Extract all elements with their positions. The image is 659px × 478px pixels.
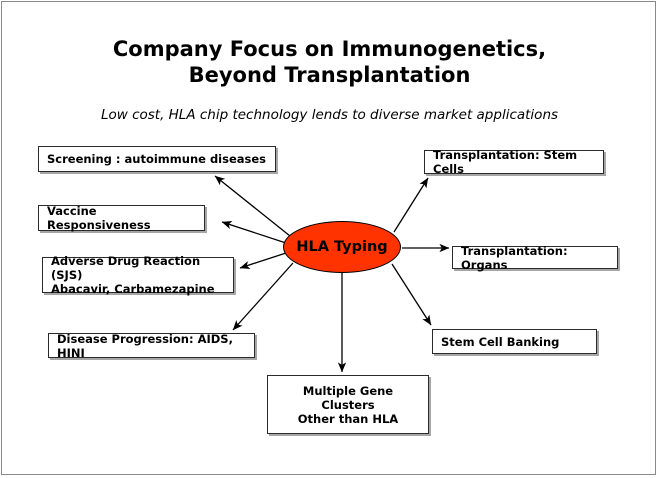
hub-node-label: HLA Typing [296,239,387,255]
node-multiple-gene-clusters-line-2: Other than HLA [298,412,398,426]
node-adverse-drug-reaction[interactable]: Adverse Drug Reaction (SJS) Abacavir, Ca… [42,257,234,293]
node-stem-cell-banking-label: Stem Cell Banking [433,335,596,349]
connector-to-stem-cell-banking [392,264,431,325]
node-adverse-drug-reaction-line-1: Adverse Drug Reaction (SJS) [51,254,200,282]
node-vaccine-responsiveness[interactable]: Vaccine Responsiveness [38,205,205,231]
node-multiple-gene-clusters-label: Multiple Gene Clusters Other than HLA [268,384,428,426]
connector-to-disease-progression [233,263,293,330]
node-adverse-drug-reaction-line-2: Abacavir, Carbamezapine [51,282,215,296]
node-transplantation-stem-cells[interactable]: Transplantation: Stem Cells [424,150,604,174]
slide-canvas: Company Focus on Immunogenetics, Beyond … [0,0,659,478]
node-multiple-gene-clusters[interactable]: Multiple Gene Clusters Other than HLA [267,375,429,434]
hub-node-hla-typing[interactable]: HLA Typing [283,221,401,273]
node-multiple-gene-clusters-line-1: Multiple Gene Clusters [303,384,393,412]
node-disease-progression[interactable]: Disease Progression: AIDS, HINI [48,333,255,358]
node-disease-progression-label: Disease Progression: AIDS, HINI [49,332,254,360]
node-screening[interactable]: Screening : autoimmune diseases [38,146,276,172]
node-transplantation-organs-label: Transplantation: Organs [453,244,617,272]
connector-to-transplantation-stem-cells [394,178,428,232]
node-transplantation-stem-cells-label: Transplantation: Stem Cells [425,148,603,176]
node-screening-label: Screening : autoimmune diseases [39,152,275,166]
node-vaccine-responsiveness-label: Vaccine Responsiveness [39,204,204,232]
node-transplantation-organs[interactable]: Transplantation: Organs [452,246,618,269]
node-stem-cell-banking[interactable]: Stem Cell Banking [432,329,597,354]
connector-to-screening [215,176,290,236]
connector-to-adverse-drug-reaction [240,253,286,268]
node-adverse-drug-reaction-label: Adverse Drug Reaction (SJS) Abacavir, Ca… [43,254,233,296]
